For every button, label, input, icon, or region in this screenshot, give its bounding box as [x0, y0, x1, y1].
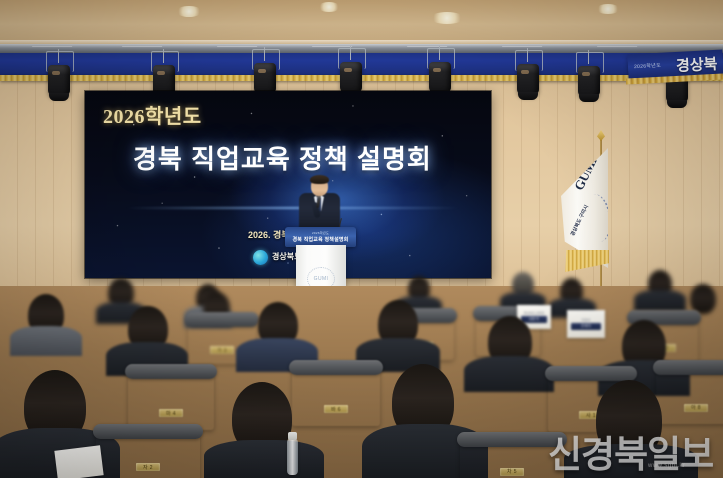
podium-sign-line1: 2026학년도: [312, 231, 329, 235]
seat-number-plate: 아 8: [684, 404, 708, 412]
projection-screen: 2026학년도 경북 직업교육 정책 설명회 2026. 경북 경상북도교육청: [85, 91, 491, 278]
slide-date-text: 2026. 경북: [248, 228, 290, 241]
education-office-logo-icon: [253, 250, 268, 265]
auditorium-seat: 아 8: [656, 368, 723, 424]
light-beam-graphic: [126, 207, 459, 209]
audience-shoulders: [464, 356, 554, 392]
seat-number-plate: 가 3: [210, 346, 234, 354]
auditorium-photo: 2026학년도 경상북 2026학년도 경북 직업교육 정책 설명회 2026.…: [0, 0, 723, 478]
speaker-hair: [310, 175, 329, 184]
recessed-light-icon: [596, 4, 620, 14]
slide-year-text: 2026학년도: [103, 100, 202, 129]
truss-wire: [213, 46, 258, 55]
seat-number-plate: 자 2: [136, 463, 160, 471]
podium-emblem-label: GUMI: [314, 276, 329, 282]
reserved-seat-placard: 지정석 관계자: [567, 310, 605, 338]
seat-number-plate: 차 5: [500, 468, 524, 476]
placard-label: 관계자: [571, 323, 601, 330]
seat-cushion: [653, 360, 723, 375]
press-watermark: 신경북일보: [548, 424, 713, 478]
handout-paper: [54, 445, 103, 478]
placard-top-text: 경상북도교육청: [524, 311, 545, 315]
audience-shoulders: [204, 440, 324, 478]
banner-main-label: 경상북: [675, 53, 717, 76]
auditorium-seat: 마 4: [128, 372, 214, 430]
seat-cushion: [93, 424, 203, 439]
seat-cushion: [289, 360, 383, 375]
recessed-light-icon: [430, 12, 464, 24]
seat-number-plate: 바 6: [324, 405, 348, 413]
recessed-light-icon: [176, 6, 202, 17]
speaker-person: [296, 176, 342, 230]
audience-shoulders: [10, 326, 82, 356]
slide-title-text: 경북 직업교육 정책 설명회: [133, 139, 432, 176]
banner-sub-label: 2026학년도: [634, 62, 661, 70]
seat-cushion: [545, 366, 637, 381]
press-watermark-sub: www.sgbi.kr: [648, 463, 686, 469]
seat-cushion: [125, 364, 217, 379]
auditorium-seat: 자 2: [96, 432, 200, 478]
bottle-cap: [288, 432, 297, 440]
podium-sign-panel: 2026학년도 경북 직업교육 정책설명회: [285, 227, 356, 247]
placard-top-text: 지정석: [582, 318, 591, 322]
seat-cushion: [185, 312, 259, 327]
water-bottle: [287, 439, 298, 475]
recessed-light-icon: [318, 2, 340, 12]
auditorium-seat: 바 6: [292, 368, 380, 426]
seat-number-plate: 마 4: [159, 409, 183, 417]
audience-shoulders: [634, 290, 686, 312]
podium-sign-line2: 경북 직업교육 정책설명회: [293, 236, 349, 243]
